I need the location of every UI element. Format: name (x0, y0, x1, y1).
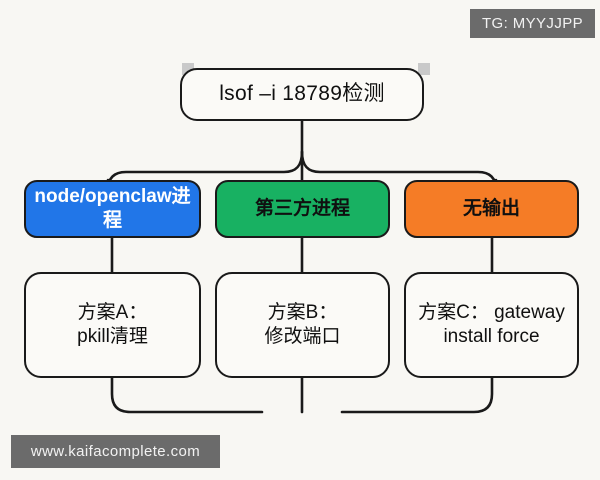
website-watermark-label: www.kaifacomplete.com (31, 443, 200, 460)
node-state-b-label: 第三方进程 (255, 197, 350, 221)
node-action-a-label: 方案A： pkill清理 (77, 301, 148, 350)
node-state-third-party-process[interactable]: 第三方进程 (215, 180, 390, 238)
node-state-c-label: 无输出 (463, 197, 520, 221)
node-action-c-label: 方案C： gateway install force (418, 301, 565, 350)
node-state-no-output[interactable]: 无输出 (404, 180, 579, 238)
node-root-lsof-check[interactable]: lsof –i 18789检测 (180, 68, 424, 121)
node-root-label: lsof –i 18789检测 (219, 81, 385, 108)
node-action-plan-c-gateway-install[interactable]: 方案C： gateway install force (404, 272, 579, 378)
diagram-canvas: lsof –i 18789检测 node/openclaw进程 第三方进程 无输… (0, 0, 600, 480)
connector-action-a-to-merge (112, 378, 262, 412)
node-state-a-label: node/openclaw进程 (26, 185, 199, 234)
node-action-plan-b-change-port[interactable]: 方案B： 修改端口 (215, 272, 390, 378)
telegram-watermark-badge: TG: MYYJJPP (470, 9, 595, 38)
telegram-watermark-label: TG: MYYJJPP (482, 15, 583, 32)
website-watermark-badge: www.kaifacomplete.com (11, 435, 220, 468)
node-state-node-openclaw-process[interactable]: node/openclaw进程 (24, 180, 201, 238)
node-action-b-label: 方案B： 修改端口 (264, 301, 340, 350)
connector-action-c-to-merge (342, 378, 492, 412)
node-action-plan-a-pkill[interactable]: 方案A： pkill清理 (24, 272, 201, 378)
